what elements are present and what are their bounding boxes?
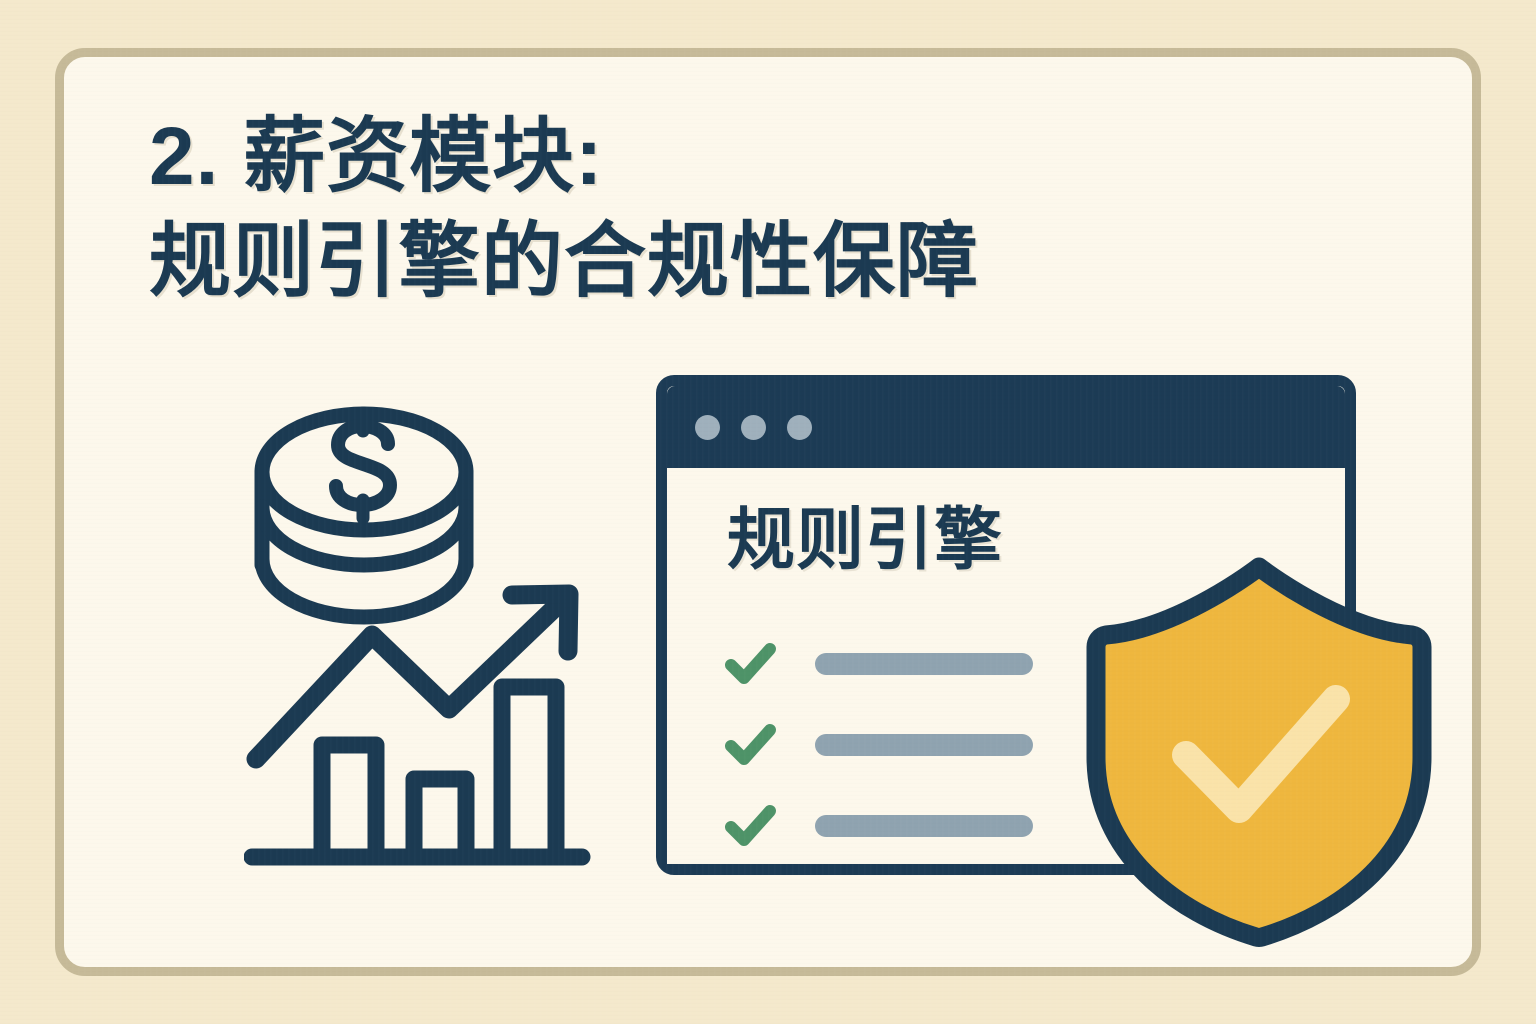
shield-badge	[1084, 557, 1434, 947]
window-dot-close-icon[interactable]	[695, 415, 720, 440]
rule-list-item[interactable]	[725, 721, 1115, 769]
rule-list-item[interactable]	[725, 640, 1115, 688]
rule-list	[725, 640, 1115, 883]
browser-titlebar	[667, 386, 1345, 468]
check-icon	[725, 723, 777, 767]
shield-outline	[1096, 567, 1422, 937]
check-icon	[725, 642, 777, 686]
window-dot-minimize-icon[interactable]	[741, 415, 766, 440]
rule-placeholder-bar	[815, 734, 1033, 756]
finance-illustration	[244, 387, 644, 907]
check-icon	[725, 804, 777, 848]
rule-placeholder-bar	[815, 815, 1033, 837]
window-dot-maximize-icon[interactable]	[787, 415, 812, 440]
page-title: 2. 薪资模块: 规则引擎的合规性保障	[149, 105, 1299, 315]
rule-engine-heading: 规则引擎	[727, 506, 1003, 574]
content-card: 2. 薪资模块: 规则引擎的合规性保障	[55, 48, 1481, 976]
slide-root: 2. 薪资模块: 规则引擎的合规性保障	[0, 0, 1536, 1024]
coin-stack-icon	[262, 413, 466, 617]
rule-list-item[interactable]	[725, 802, 1115, 850]
page-title-line-1: 2. 薪资模块:	[149, 105, 1299, 210]
growth-arrow-icon	[256, 594, 569, 759]
rule-placeholder-bar	[815, 653, 1033, 675]
page-title-line-2: 规则引擎的合规性保障	[149, 210, 1299, 315]
